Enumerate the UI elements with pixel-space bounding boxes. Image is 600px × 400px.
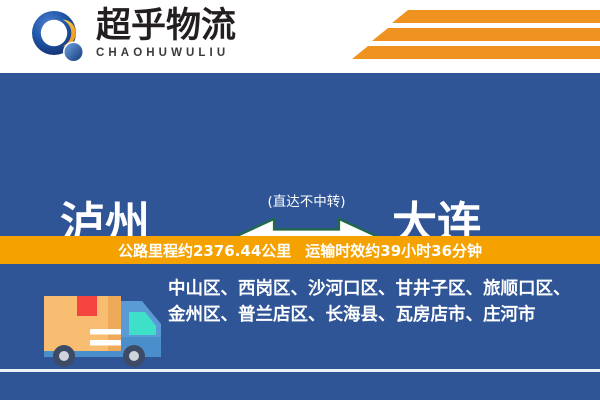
circle-q-logo-icon [31, 10, 85, 64]
transit-duration-label: 运输时效约39小时36分钟 [305, 242, 482, 260]
orange-speed-stripes-icon [340, 8, 600, 66]
banner-header: 超乎物流 CHAOHUWULIU [0, 0, 600, 73]
coverage-district-list: 中山区、西岗区、沙河口区、甘井子区、旅顺口区、金州区、普兰店区、长海县、瓦房店市… [168, 276, 580, 328]
info-bar-content: 公路里程约2376.44公里运输时效约39小时36分钟 [118, 240, 482, 261]
stripe-middle [372, 28, 600, 41]
logo-chinese-name: 超乎物流 [96, 7, 271, 45]
logo-wordmark: 超乎物流 CHAOHUWULIU [96, 7, 271, 60]
footer-divider [0, 369, 600, 372]
stripe-top [392, 10, 600, 23]
road-distance-label: 公路里程约2376.44公里 [118, 242, 291, 260]
route-section: 泸州 (直达不中转) 【往返运输】 大连 [0, 73, 600, 236]
logistics-route-banner: 超乎物流 CHAOHUWULIU 泸州 (直达不中转) 【往返运输】 大连 公路… [0, 0, 600, 400]
direct-shipping-note: (直达不中转) [237, 190, 376, 210]
delivery-truck-icon [30, 277, 165, 367]
route-info-bar: 公路里程约2376.44公里运输时效约39小时36分钟 [0, 236, 600, 264]
logo-pinyin-name: CHAOHUWULIU [96, 46, 271, 60]
stripe-bottom [352, 46, 600, 59]
